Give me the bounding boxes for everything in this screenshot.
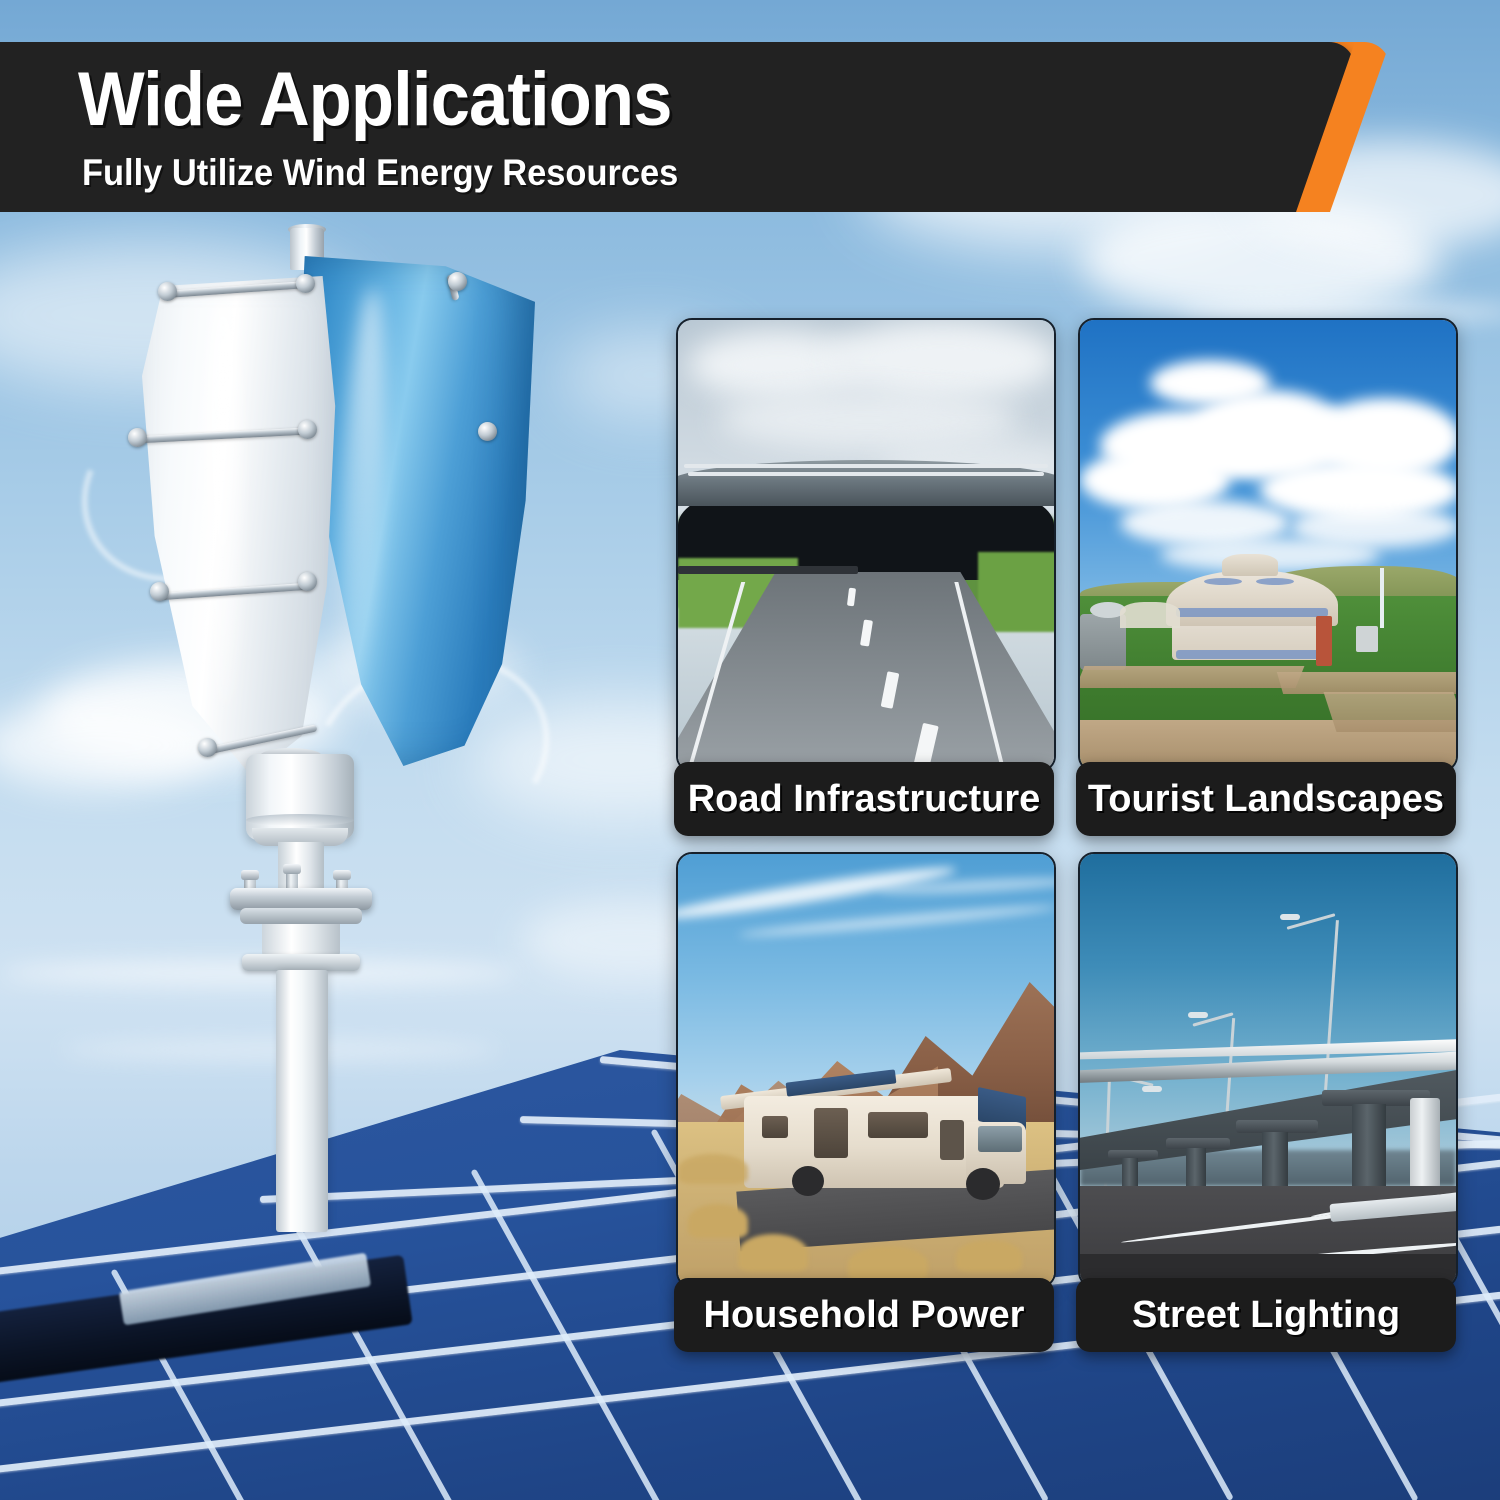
- mount-bolt-head: [333, 870, 351, 880]
- turbine-arm-knob: [158, 282, 177, 301]
- card-caption-household-power: Household Power: [674, 1278, 1054, 1352]
- mounting-flange: [230, 888, 372, 910]
- turbine-arm-knob: [128, 428, 147, 447]
- card-household-power[interactable]: Household Power: [676, 852, 1056, 1352]
- header-banner: Wide Applications Fully Utilize Wind Ene…: [0, 42, 1390, 212]
- card-label: Road Infrastructure: [688, 778, 1041, 821]
- generator-seam-ring: [246, 814, 354, 826]
- card-photo-street-lighting: [1078, 852, 1458, 1288]
- turbine-arm-knob: [298, 420, 317, 439]
- wind-turbine-product: [110, 228, 540, 1228]
- card-street-lighting[interactable]: Street Lighting: [1078, 852, 1458, 1352]
- mounting-flange-lower: [240, 908, 362, 924]
- card-photo-household-power: [676, 852, 1056, 1288]
- card-label: Tourist Landscapes: [1088, 778, 1444, 821]
- turbine-arm-knob: [478, 422, 497, 441]
- street-lamp-head: [1188, 1012, 1208, 1018]
- infographic-canvas: Road Infrastructure: [0, 0, 1500, 1500]
- card-photo-tourist-landscapes: [1078, 318, 1458, 772]
- card-label: Household Power: [704, 1294, 1025, 1337]
- turbine-arm-knob: [448, 272, 467, 291]
- card-photo-road-infrastructure: [676, 318, 1056, 772]
- turbine-mast: [276, 970, 328, 1232]
- card-label: Street Lighting: [1132, 1294, 1400, 1337]
- turbine-blade-white-highlight: [206, 300, 240, 710]
- turbine-arm-knob: [298, 572, 317, 591]
- mast-collar: [262, 924, 340, 958]
- card-caption-tourist-landscapes: Tourist Landscapes: [1076, 762, 1456, 836]
- card-tourist-landscapes[interactable]: Tourist Landscapes: [1078, 318, 1458, 836]
- page-subtitle: Fully Utilize Wind Energy Resources: [82, 152, 678, 194]
- card-caption-road-infrastructure: Road Infrastructure: [674, 762, 1054, 836]
- mast-base-plate: [242, 954, 360, 971]
- turbine-blade-white: [142, 276, 352, 776]
- turbine-arm-knob: [150, 582, 169, 601]
- page-title: Wide Applications: [78, 56, 672, 143]
- street-lamp-head: [1142, 1086, 1162, 1092]
- mount-bolt-head: [241, 870, 259, 880]
- card-caption-street-lighting: Street Lighting: [1076, 1278, 1456, 1352]
- turbine-arm-knob: [296, 274, 315, 293]
- mount-bolt-head: [283, 864, 301, 874]
- street-lamp-head: [1280, 914, 1300, 920]
- card-road-infrastructure[interactable]: Road Infrastructure: [676, 318, 1056, 836]
- turbine-arm-knob: [198, 738, 217, 757]
